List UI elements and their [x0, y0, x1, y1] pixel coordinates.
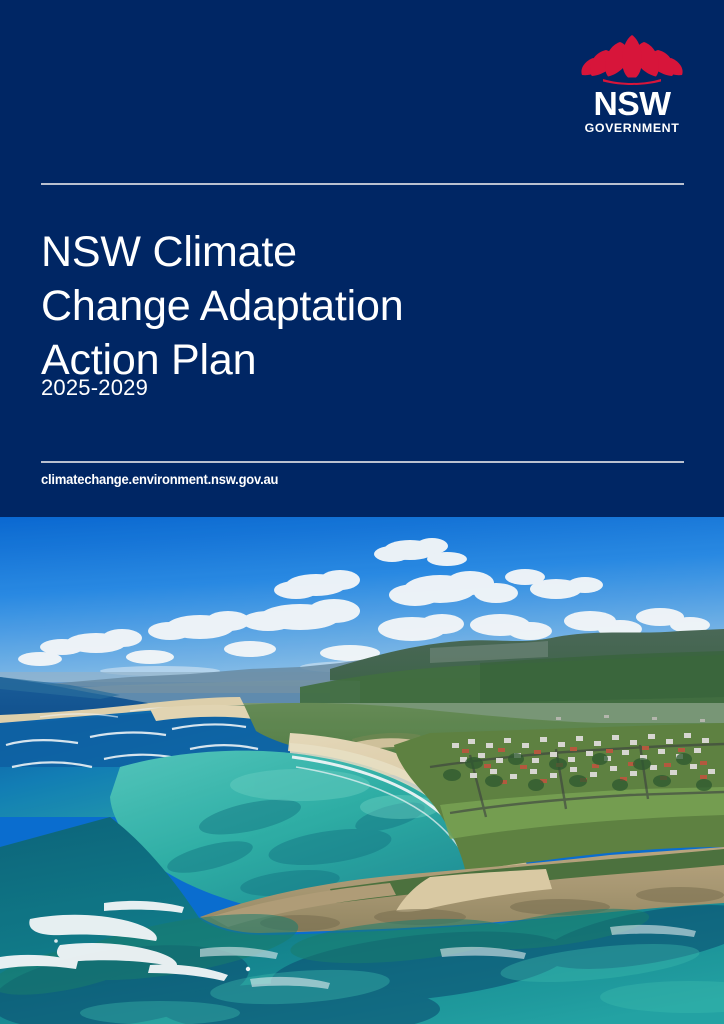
- page-title: NSW Climate Change Adaptation Action Pla…: [41, 225, 641, 387]
- cover-header-panel: NSW GOVERNMENT NSW Climate Change Adapta…: [0, 0, 724, 517]
- title-line-1: NSW Climate: [41, 225, 641, 279]
- rule-above-title: [41, 183, 684, 185]
- logo-government-wordmark: GOVERNMENT: [578, 121, 686, 135]
- document-cover: NSW GOVERNMENT NSW Climate Change Adapta…: [0, 0, 724, 1024]
- title-line-2: Change Adaptation: [41, 279, 641, 333]
- rule-above-url: [41, 461, 684, 463]
- cover-photograph: [0, 517, 724, 1024]
- nsw-government-logo: NSW GOVERNMENT: [578, 30, 686, 135]
- logo-nsw-wordmark: NSW: [577, 87, 687, 120]
- website-url: climatechange.environment.nsw.gov.au: [41, 471, 278, 489]
- subtitle-date-range: 2025-2029: [41, 375, 148, 401]
- waratah-icon: [578, 30, 686, 85]
